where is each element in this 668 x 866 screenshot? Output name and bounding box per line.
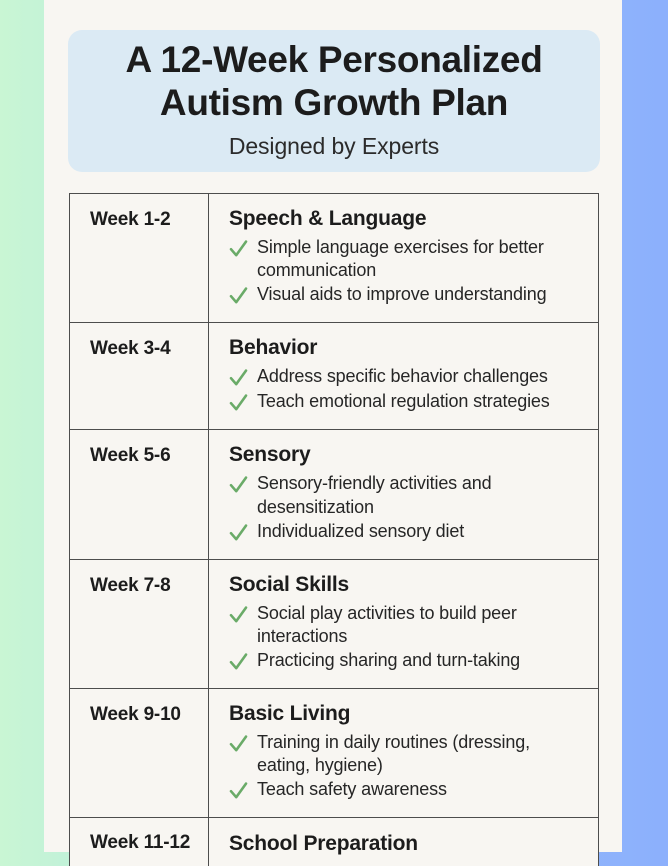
- list-item: Simple language exercises for better com…: [229, 236, 586, 282]
- week-label: Week 11-12: [90, 832, 208, 854]
- list-item: Teach emotional regulation strategies: [229, 390, 586, 414]
- list-item: Social play activities to build peer int…: [229, 602, 586, 648]
- focus-area-title: Basic Living: [229, 702, 586, 726]
- detail-cell: Speech & LanguageSimple language exercis…: [209, 194, 598, 322]
- week-cell: Week 3-4: [70, 323, 209, 429]
- list-item-text: Teach safety awareness: [257, 778, 586, 801]
- detail-cell: BehaviorAddress specific behavior challe…: [209, 323, 598, 429]
- detail-cell: Basic LivingTraining in daily routines (…: [209, 689, 598, 817]
- list-item: Individualized sensory diet: [229, 520, 586, 544]
- list-item: Training in daily routines (dressing, ea…: [229, 731, 586, 777]
- table-row: Week 11-12School Preparation: [70, 818, 598, 866]
- focus-area-title: School Preparation: [229, 832, 586, 856]
- focus-area-title: Behavior: [229, 336, 586, 360]
- page-sheet: A 12-Week Personalized Autism Growth Pla…: [44, 0, 622, 852]
- list-item-text: Social play activities to build peer int…: [257, 602, 586, 648]
- list-item: Teach safety awareness: [229, 778, 586, 802]
- week-label: Week 5-6: [90, 445, 208, 467]
- check-icon: [229, 779, 248, 802]
- list-item-text: Teach emotional regulation strategies: [257, 390, 586, 413]
- detail-cell: Social SkillsSocial play activities to b…: [209, 560, 598, 688]
- list-item-text: Address specific behavior challenges: [257, 365, 586, 388]
- week-label: Week 1-2: [90, 209, 208, 231]
- list-item-text: Individualized sensory diet: [257, 520, 586, 543]
- plan-table: Week 1-2Speech & LanguageSimple language…: [69, 193, 599, 866]
- check-icon: [229, 732, 248, 755]
- page-title: A 12-Week Personalized Autism Growth Pla…: [125, 38, 542, 125]
- week-cell: Week 5-6: [70, 430, 209, 558]
- list-item: Sensory-friendly activities and desensit…: [229, 472, 586, 518]
- check-icon: [229, 237, 248, 260]
- week-cell: Week 9-10: [70, 689, 209, 817]
- list-item: Practicing sharing and turn-taking: [229, 649, 586, 673]
- week-cell: Week 7-8: [70, 560, 209, 688]
- focus-area-title: Social Skills: [229, 573, 586, 597]
- table-row: Week 5-6SensorySensory-friendly activiti…: [70, 430, 598, 559]
- focus-area-title: Speech & Language: [229, 207, 586, 231]
- check-icon: [229, 366, 248, 389]
- table-row: Week 3-4BehaviorAddress specific behavio…: [70, 323, 598, 430]
- list-item: Address specific behavior challenges: [229, 365, 586, 389]
- check-icon: [229, 603, 248, 626]
- list-item-text: Simple language exercises for better com…: [257, 236, 586, 282]
- week-label: Week 9-10: [90, 704, 208, 726]
- table-row: Week 9-10Basic LivingTraining in daily r…: [70, 689, 598, 818]
- week-label: Week 3-4: [90, 338, 208, 360]
- check-icon: [229, 391, 248, 414]
- week-cell: Week 1-2: [70, 194, 209, 322]
- week-cell: Week 11-12: [70, 818, 209, 866]
- detail-cell: SensorySensory-friendly activities and d…: [209, 430, 598, 558]
- check-icon: [229, 521, 248, 544]
- list-item-text: Visual aids to improve understanding: [257, 283, 586, 306]
- list-item-text: Sensory-friendly activities and desensit…: [257, 472, 586, 518]
- bullet-list: Sensory-friendly activities and desensit…: [229, 472, 586, 543]
- bullet-list: Training in daily routines (dressing, ea…: [229, 731, 586, 802]
- bullet-list: Simple language exercises for better com…: [229, 236, 586, 307]
- check-icon: [229, 473, 248, 496]
- page-title-line-2: Autism Growth Plan: [160, 82, 508, 123]
- detail-cell: School Preparation: [209, 818, 598, 866]
- page-title-line-1: A 12-Week Personalized: [125, 39, 542, 80]
- list-item-text: Practicing sharing and turn-taking: [257, 649, 586, 672]
- table-row: Week 7-8Social SkillsSocial play activit…: [70, 560, 598, 689]
- list-item-text: Training in daily routines (dressing, ea…: [257, 731, 586, 777]
- bullet-list: Address specific behavior challengesTeac…: [229, 365, 586, 414]
- bullet-list: Social play activities to build peer int…: [229, 602, 586, 673]
- header-card: A 12-Week Personalized Autism Growth Pla…: [68, 30, 600, 172]
- list-item: Visual aids to improve understanding: [229, 283, 586, 307]
- page-subtitle: Designed by Experts: [229, 133, 439, 160]
- table-row: Week 1-2Speech & LanguageSimple language…: [70, 194, 598, 323]
- check-icon: [229, 284, 248, 307]
- focus-area-title: Sensory: [229, 443, 586, 467]
- check-icon: [229, 650, 248, 673]
- week-label: Week 7-8: [90, 575, 208, 597]
